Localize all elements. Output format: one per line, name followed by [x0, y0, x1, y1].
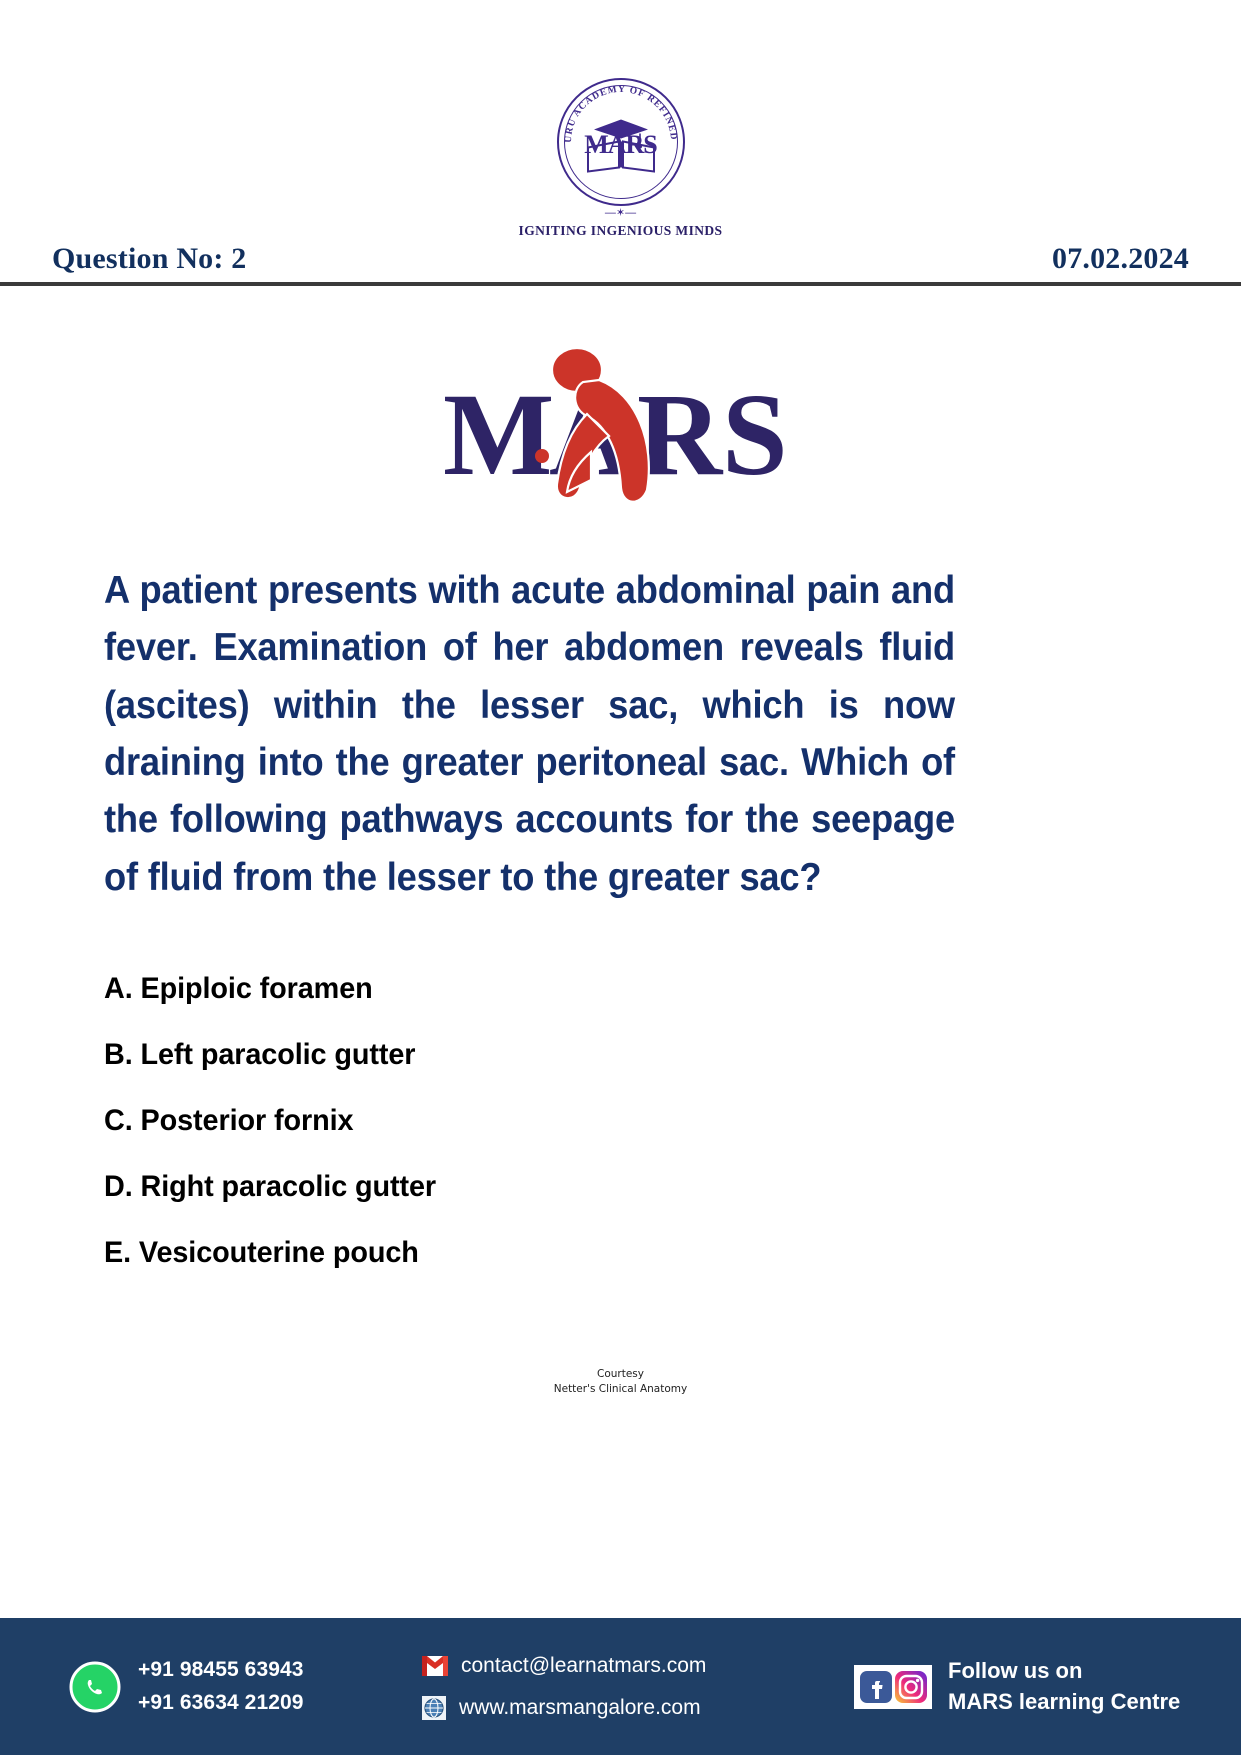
- footer-phone-block: +91 98455 63943 +91 63634 21209: [0, 1658, 400, 1715]
- follow-line-2: MARS learning Centre: [948, 1689, 1180, 1715]
- option-b[interactable]: B. Left paracolic gutter: [104, 1038, 968, 1072]
- social-icons-group[interactable]: [854, 1665, 932, 1709]
- question-header-row: Question No: 2 07.02.2024: [0, 238, 1241, 280]
- gmail-icon[interactable]: [422, 1656, 448, 1676]
- option-c[interactable]: C. Posterior fornix: [104, 1104, 968, 1138]
- courtesy-label: Courtesy: [0, 1367, 1241, 1382]
- seal-divider-ornament: —✶—: [605, 208, 636, 219]
- website-url[interactable]: www.marsmangalore.com: [459, 1696, 701, 1720]
- instagram-icon: [895, 1671, 927, 1703]
- footer-bar: +91 98455 63943 +91 63634 21209 contact@…: [0, 1618, 1241, 1755]
- website-row[interactable]: www.marsmangalore.com: [422, 1696, 701, 1720]
- footer-contact-block: contact@learnatmars.com www.marsmangalor…: [400, 1654, 820, 1720]
- seal-logo: MANGALURU ACADEMY OF REFINED STUDIES MAR…: [557, 78, 685, 206]
- phone-secondary[interactable]: +91 63634 21209: [138, 1691, 304, 1715]
- globe-icon[interactable]: [422, 1696, 446, 1720]
- whatsapp-icon[interactable]: [68, 1660, 122, 1714]
- question-text: A patient presents with acute abdominal …: [104, 562, 955, 906]
- answer-options-list: A. Epiploic foramen B. Left paracolic gu…: [104, 972, 1004, 1302]
- phone-primary[interactable]: +91 98455 63943: [138, 1658, 304, 1682]
- question-date-label: 07.02.2024: [1052, 242, 1189, 276]
- option-d[interactable]: D. Right paracolic gutter: [104, 1170, 968, 1204]
- option-a[interactable]: A. Epiploic foramen: [104, 972, 968, 1006]
- phone-numbers: +91 98455 63943 +91 63634 21209: [138, 1658, 304, 1715]
- institution-seal-block: MANGALURU ACADEMY OF REFINED STUDIES MAR…: [0, 78, 1241, 239]
- follow-us-text: Follow us on MARS learning Centre: [948, 1658, 1180, 1715]
- header-divider-rule: [0, 282, 1241, 286]
- question-number-label: Question No: 2: [52, 242, 246, 276]
- seal-center-text: MARS: [584, 130, 657, 160]
- courtesy-credit: Courtesy Netter's Clinical Anatomy: [0, 1367, 1241, 1397]
- seal-tagline: IGNITING INGENIOUS MINDS: [519, 223, 723, 239]
- mars-wordmark-logo: M A R S: [0, 334, 1241, 514]
- follow-line-1: Follow us on: [948, 1658, 1180, 1684]
- mars-wordmark-svg: M A R S: [441, 334, 801, 514]
- svg-text:R: R: [637, 369, 724, 500]
- email-address[interactable]: contact@learnatmars.com: [461, 1654, 706, 1678]
- footer-social-block: Follow us on MARS learning Centre: [820, 1658, 1241, 1715]
- facebook-icon: [860, 1671, 892, 1703]
- svg-text:S: S: [722, 369, 788, 500]
- email-row[interactable]: contact@learnatmars.com: [422, 1654, 706, 1678]
- svg-text:M: M: [443, 369, 554, 500]
- courtesy-source: Netter's Clinical Anatomy: [0, 1382, 1241, 1397]
- option-e[interactable]: E. Vesicouterine pouch: [104, 1236, 968, 1270]
- question-card-page: MANGALURU ACADEMY OF REFINED STUDIES MAR…: [0, 0, 1241, 1755]
